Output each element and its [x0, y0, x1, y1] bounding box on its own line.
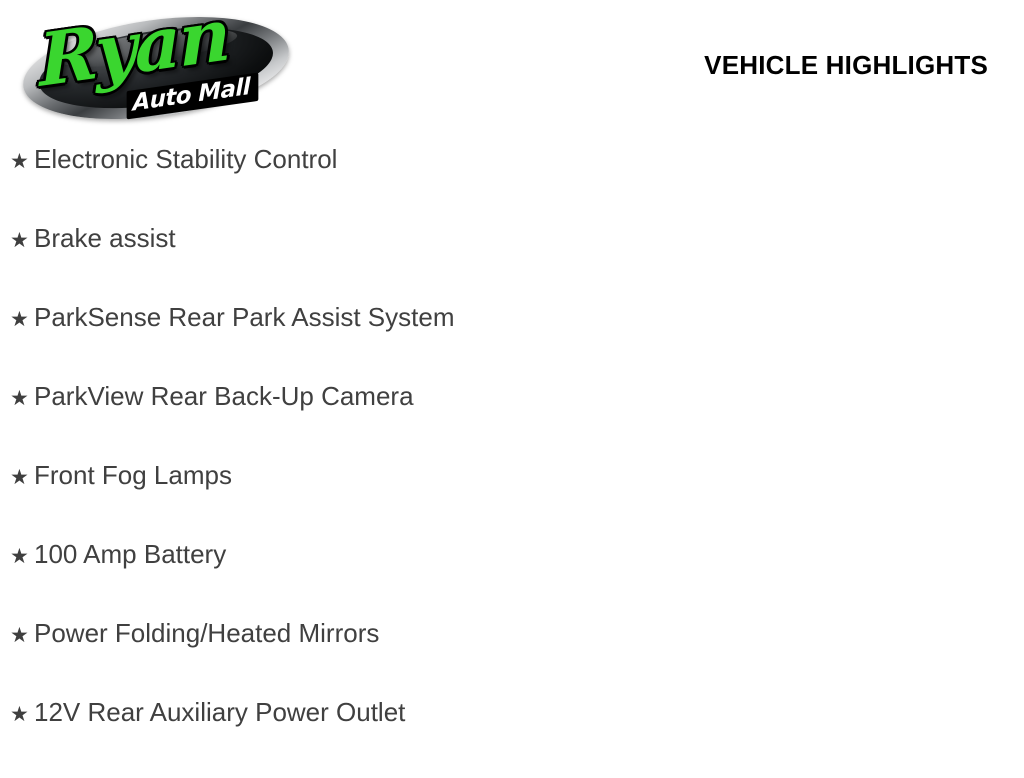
- star-icon: ★: [10, 230, 34, 251]
- list-item: ★ 12V Rear Auxiliary Power Outlet: [0, 699, 1024, 778]
- star-icon: ★: [10, 467, 34, 488]
- star-icon: ★: [10, 151, 34, 172]
- highlight-label: Power Folding/Heated Mirrors: [34, 620, 379, 646]
- highlight-label: Front Fog Lamps: [34, 462, 232, 488]
- list-item: ★ 100 Amp Battery: [0, 541, 1024, 620]
- page-header: Ryan Auto Mall VEHICLE HIGHLIGHTS: [0, 0, 1024, 130]
- highlight-label: ParkView Rear Back-Up Camera: [34, 383, 414, 409]
- star-icon: ★: [10, 625, 34, 646]
- star-icon: ★: [10, 546, 34, 567]
- dealer-logo[interactable]: Ryan Auto Mall: [14, 4, 299, 124]
- star-icon: ★: [10, 388, 34, 409]
- list-item: ★ Power Folding/Heated Mirrors: [0, 620, 1024, 699]
- list-item: ★ Brake assist: [0, 225, 1024, 304]
- star-icon: ★: [10, 704, 34, 725]
- page-title: VEHICLE HIGHLIGHTS: [704, 50, 988, 81]
- list-item: ★ ParkView Rear Back-Up Camera: [0, 383, 1024, 462]
- highlight-label: 12V Rear Auxiliary Power Outlet: [34, 699, 405, 725]
- star-icon: ★: [10, 309, 34, 330]
- list-item: ★ Electronic Stability Control: [0, 146, 1024, 225]
- highlight-label: ParkSense Rear Park Assist System: [34, 304, 454, 330]
- highlight-label: Electronic Stability Control: [34, 146, 337, 172]
- list-item: ★ ParkSense Rear Park Assist System: [0, 304, 1024, 383]
- list-item: ★ Front Fog Lamps: [0, 462, 1024, 541]
- highlight-label: 100 Amp Battery: [34, 541, 226, 567]
- highlight-label: Brake assist: [34, 225, 176, 251]
- vehicle-highlights-list: ★ Electronic Stability Control ★ Brake a…: [0, 146, 1024, 778]
